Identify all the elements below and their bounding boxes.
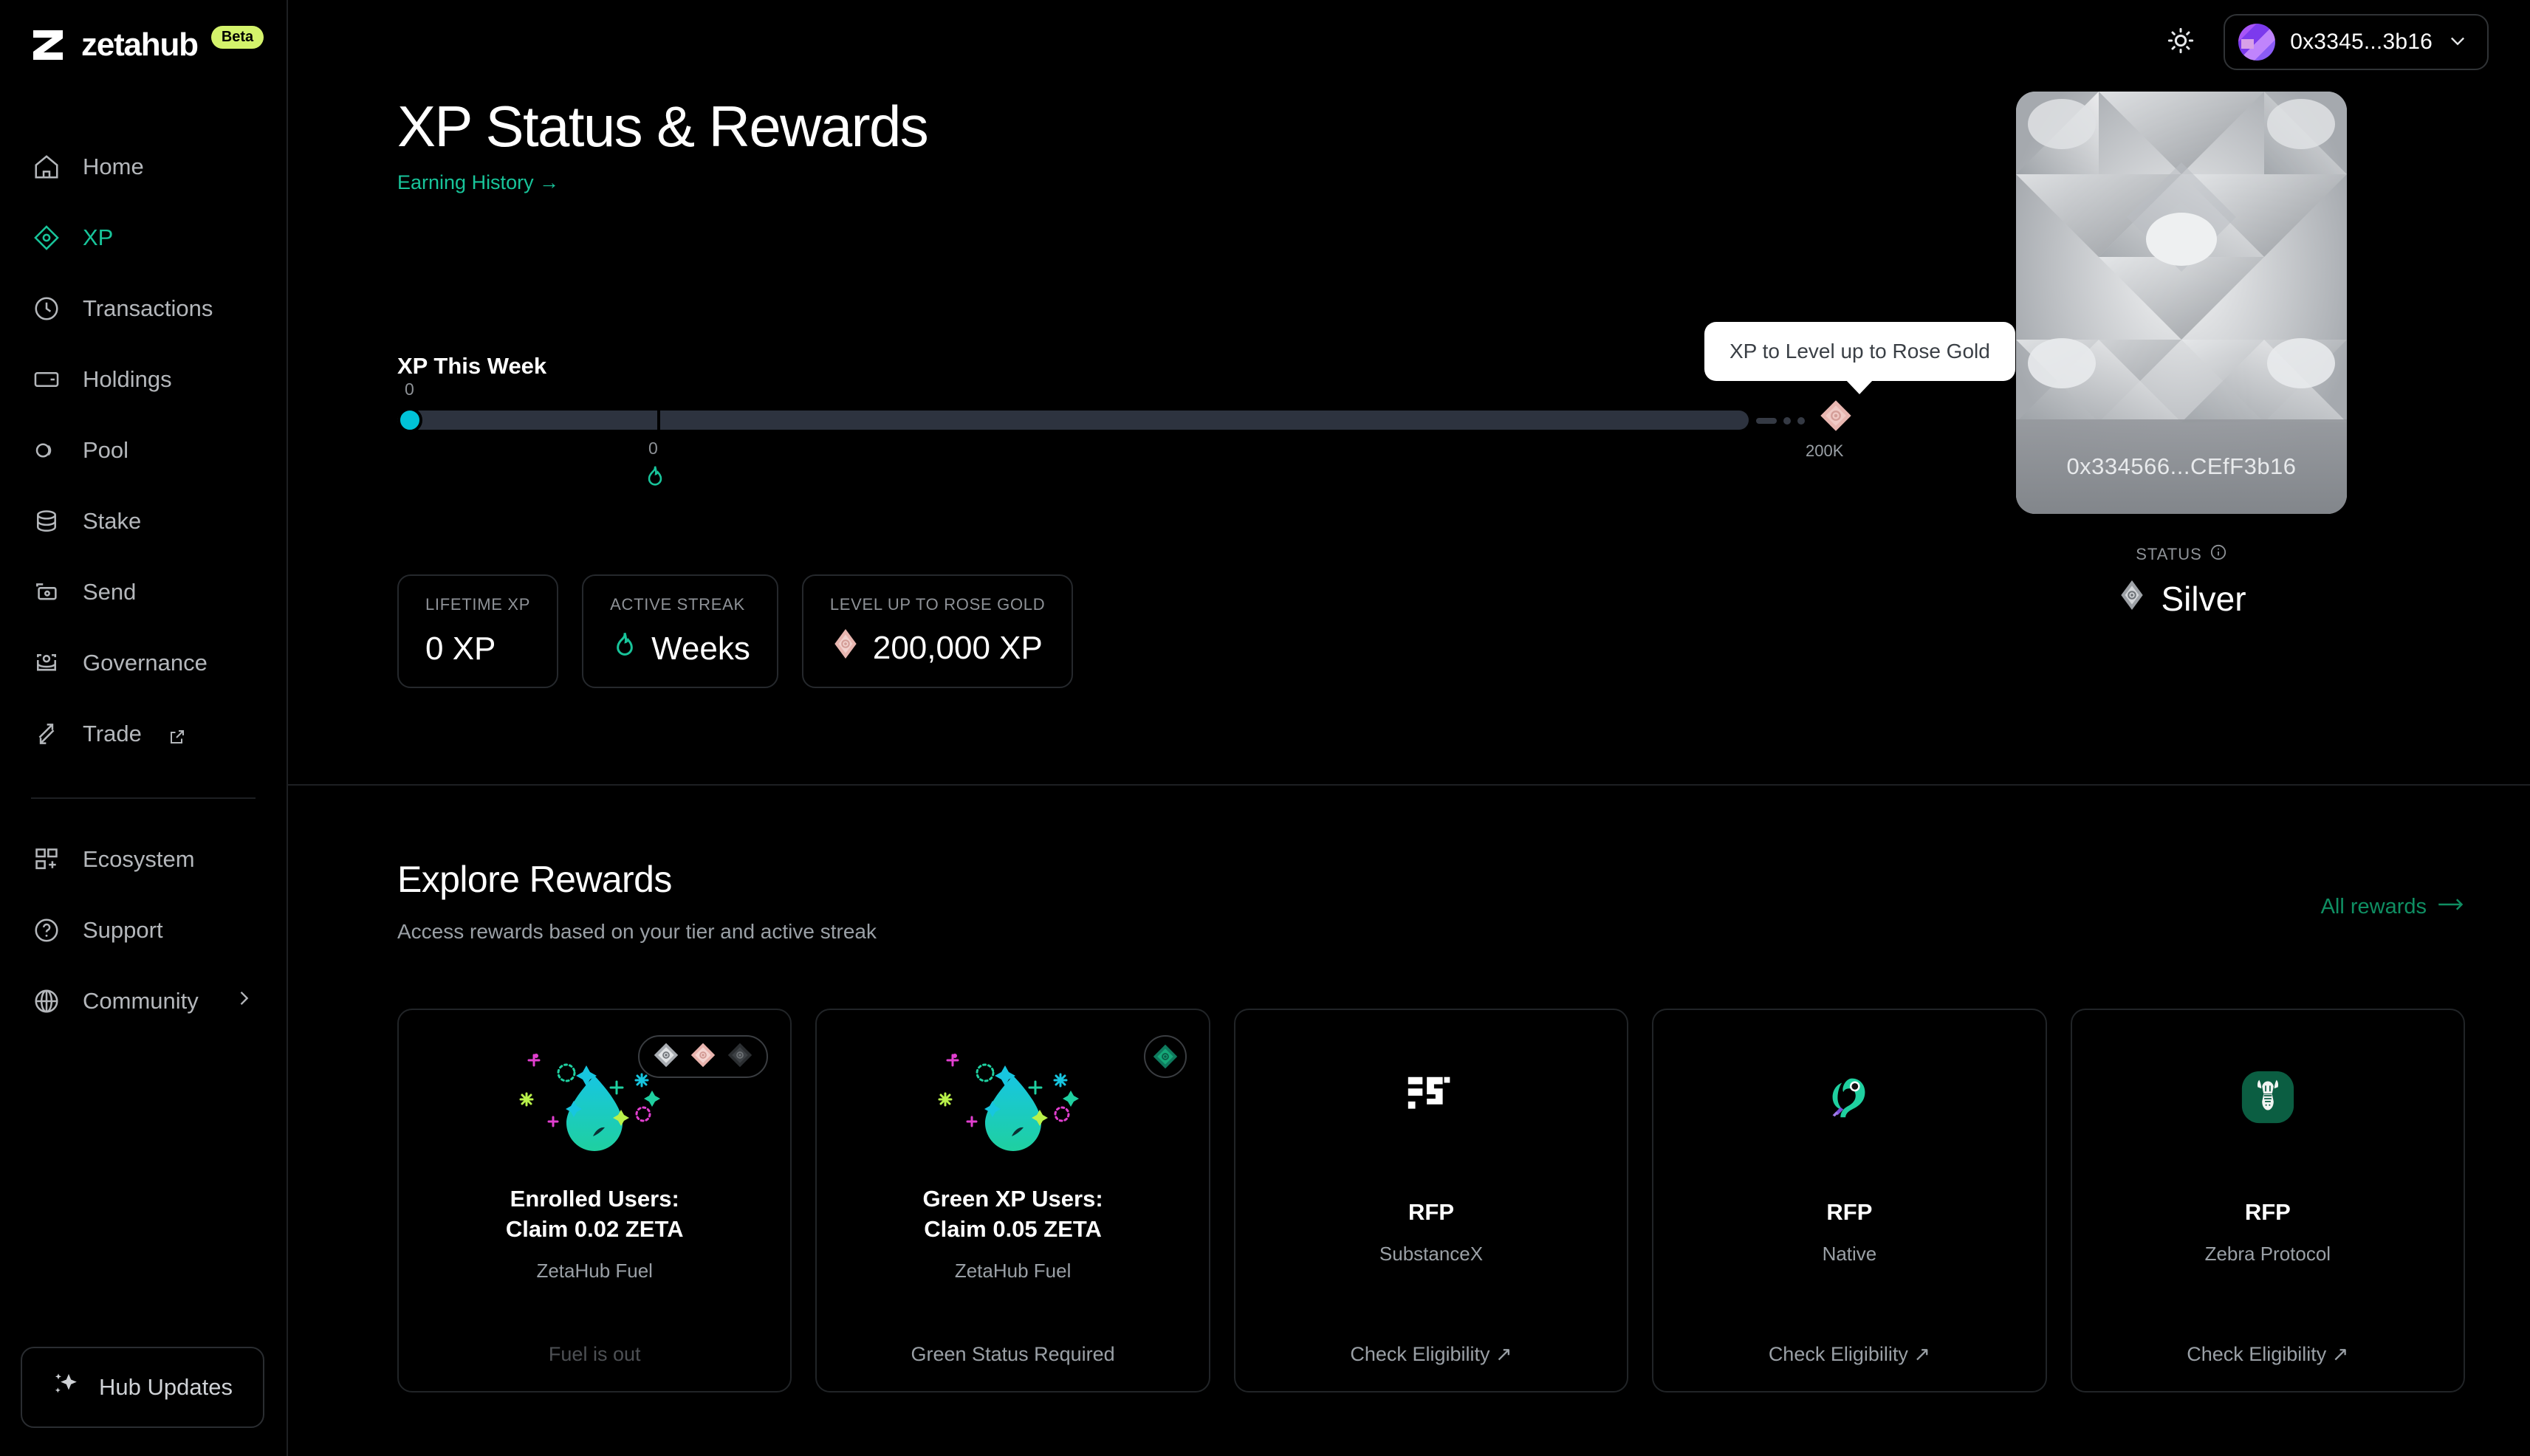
zebra-protocol-logo-icon bbox=[2072, 1010, 2464, 1184]
reward-card-cta[interactable]: Check Eligibility ↗ bbox=[1653, 1343, 2045, 1366]
all-rewards-link[interactable]: All rewards bbox=[2321, 895, 2465, 919]
app-root: zetahub Beta Home XP bbox=[0, 0, 2530, 1456]
reward-card-title: RFP bbox=[1811, 1198, 1887, 1228]
xp-stat-cards: LIFETIME XP 0 XP ACTIVE STREAK Weeks LEV… bbox=[397, 574, 1073, 688]
sidebar-item-transactions[interactable]: Transactions bbox=[0, 273, 287, 344]
grid-plus-icon bbox=[31, 844, 62, 875]
xp-progress-track bbox=[397, 411, 1749, 430]
wallet-button[interactable]: 0x3345...3b16 bbox=[2224, 14, 2489, 70]
sidebar-item-governance[interactable]: Governance bbox=[0, 628, 287, 698]
main-content: 0x3345...3b16 XP Status & Rewards Earnin… bbox=[288, 0, 2530, 1456]
stat-label: LEVEL UP TO ROSE GOLD bbox=[830, 595, 1045, 614]
tier-badge-group bbox=[638, 1035, 768, 1078]
reward-card-zebra-protocol[interactable]: RFP Zebra Protocol Check Eligibility ↗ bbox=[2071, 1009, 2465, 1393]
sidebar-item-label: Holdings bbox=[83, 366, 172, 393]
stat-card-lifetime-xp: LIFETIME XP 0 XP bbox=[397, 574, 558, 688]
reward-card-subtitle: SubstanceX bbox=[1379, 1243, 1483, 1266]
trade-arrows-icon bbox=[31, 718, 62, 749]
xp-tick-label: 0 bbox=[648, 439, 658, 459]
sidebar-item-support[interactable]: Support bbox=[0, 895, 287, 966]
xp-progress-tick bbox=[657, 409, 660, 431]
sidebar-nav: Home XP Transactions bbox=[0, 131, 287, 1037]
stat-value: 0 XP bbox=[425, 631, 530, 667]
chevron-down-icon bbox=[2447, 30, 2468, 55]
xp-progress-bar[interactable]: 0 0 bbox=[397, 405, 1845, 434]
zeta-fuel-droplet-icon bbox=[817, 1010, 1208, 1184]
stat-value: Weeks bbox=[651, 631, 750, 667]
status-row: STATUS bbox=[2016, 543, 2347, 566]
rewards-header: Explore Rewards Access rewards based on … bbox=[397, 858, 2465, 944]
reward-card-cta: Fuel is out bbox=[399, 1343, 790, 1366]
sidebar-item-home[interactable]: Home bbox=[0, 131, 287, 202]
rose-gold-diamond-icon bbox=[830, 628, 861, 667]
rewards-card-grid: Enrolled Users:Claim 0.02 ZETA ZetaHub F… bbox=[397, 1009, 2465, 1393]
hub-updates-label: Hub Updates bbox=[99, 1374, 233, 1401]
stat-card-active-streak: ACTIVE STREAK Weeks bbox=[582, 574, 778, 688]
sidebar-item-label: Support bbox=[83, 917, 163, 944]
sidebar-item-label: XP bbox=[83, 224, 113, 251]
reward-card-subtitle: ZetaHub Fuel bbox=[536, 1260, 653, 1282]
stat-label: LIFETIME XP bbox=[425, 595, 530, 614]
sidebar-item-ecosystem[interactable]: Ecosystem bbox=[0, 824, 287, 895]
sidebar-item-label: Governance bbox=[83, 650, 208, 676]
sidebar-item-trade[interactable]: Trade bbox=[0, 698, 287, 769]
xp-week-title: XP This Week bbox=[397, 353, 1845, 380]
reward-card-enrolled-users[interactable]: Enrolled Users:Claim 0.02 ZETA ZetaHub F… bbox=[397, 1009, 792, 1393]
sidebar-item-pool[interactable]: Pool bbox=[0, 415, 287, 486]
topbar: 0x3345...3b16 bbox=[288, 0, 2530, 71]
rose-gold-diamond-icon[interactable] bbox=[1819, 399, 1853, 436]
reward-card-native[interactable]: RFP Native Check Eligibility ↗ bbox=[1652, 1009, 2046, 1393]
reward-card-cta: Green Status Required bbox=[817, 1343, 1208, 1366]
native-chameleon-logo-icon bbox=[1653, 1010, 2045, 1184]
reward-card-green-xp-users[interactable]: Green XP Users:Claim 0.05 ZETA ZetaHub F… bbox=[815, 1009, 1210, 1393]
brand-logo[interactable]: zetahub Beta bbox=[0, 0, 287, 71]
globe-icon bbox=[31, 986, 62, 1017]
sidebar-item-holdings[interactable]: Holdings bbox=[0, 344, 287, 415]
sidebar-item-send[interactable]: Send bbox=[0, 557, 287, 628]
xp-goal-label: 200K bbox=[1806, 442, 1843, 461]
sidebar-divider bbox=[31, 797, 256, 799]
explore-rewards-section: Explore Rewards Access rewards based on … bbox=[397, 858, 2465, 1393]
brand-name: zetahub bbox=[81, 27, 198, 63]
zeta-z-logo-icon bbox=[31, 28, 65, 62]
wallet-address: 0x3345...3b16 bbox=[2290, 30, 2433, 55]
status-label: STATUS bbox=[2136, 545, 2202, 564]
status-tier-label: Silver bbox=[2161, 579, 2246, 619]
sun-icon bbox=[2166, 26, 2195, 59]
nft-card[interactable]: 0x334566...CEfF3b16 bbox=[2016, 92, 2347, 514]
reward-card-title: Enrolled Users:Claim 0.02 ZETA bbox=[491, 1184, 699, 1245]
send-money-icon bbox=[31, 577, 62, 608]
status-badge: Silver bbox=[2016, 579, 2347, 619]
flame-icon bbox=[610, 630, 640, 667]
reward-card-substancex[interactable]: RFP SubstanceX Check Eligibility ↗ bbox=[1234, 1009, 1628, 1393]
xp-progress-knob[interactable] bbox=[397, 408, 422, 433]
green-diamond-icon bbox=[1144, 1035, 1187, 1078]
arrow-right-icon bbox=[2437, 895, 2465, 919]
sidebar-item-label: Community bbox=[83, 988, 199, 1014]
substancex-logo-icon bbox=[1235, 1010, 1627, 1184]
chevron-right-icon bbox=[233, 988, 254, 1014]
rewards-title: Explore Rewards bbox=[397, 858, 877, 901]
nft-address: 0x334566...CEfF3b16 bbox=[2016, 419, 2347, 514]
sidebar-item-label: Send bbox=[83, 579, 136, 605]
clock-icon bbox=[31, 293, 62, 324]
sidebar-item-label: Transactions bbox=[83, 295, 213, 322]
wallet-icon bbox=[31, 364, 62, 395]
reward-card-title: RFP bbox=[2230, 1198, 2306, 1228]
reward-card-title: Green XP Users:Claim 0.05 ZETA bbox=[908, 1184, 1118, 1245]
reward-card-cta[interactable]: Check Eligibility ↗ bbox=[2072, 1343, 2464, 1366]
pool-circles-icon bbox=[31, 435, 62, 466]
stat-value-row: Weeks bbox=[610, 630, 750, 667]
section-divider bbox=[288, 784, 2530, 786]
silver-diamond-icon bbox=[2116, 579, 2147, 619]
dark-diamond-icon bbox=[727, 1042, 753, 1072]
rose-gold-diamond-icon bbox=[690, 1042, 716, 1072]
reward-card-subtitle: Native bbox=[1823, 1243, 1877, 1266]
sidebar: zetahub Beta Home XP bbox=[0, 0, 288, 1456]
sidebar-item-label: Stake bbox=[83, 508, 141, 535]
sidebar-item-xp[interactable]: XP bbox=[0, 202, 287, 273]
sidebar-item-stake[interactable]: Stake bbox=[0, 486, 287, 557]
nft-status-column: 0x334566...CEfF3b16 STATUS bbox=[2016, 92, 2347, 619]
xp-start-label: 0 bbox=[405, 380, 414, 399]
info-icon[interactable] bbox=[2210, 543, 2227, 566]
sidebar-item-community[interactable]: Community bbox=[0, 966, 287, 1037]
level-up-tooltip: XP to Level up to Rose Gold bbox=[1704, 322, 2015, 381]
database-stack-icon bbox=[31, 506, 62, 537]
reward-card-subtitle: Zebra Protocol bbox=[2205, 1243, 2331, 1266]
earning-history-link[interactable]: Earning History → bbox=[397, 171, 559, 194]
stat-card-level-up: LEVEL UP TO ROSE GOLD 200,000 XP bbox=[802, 574, 1073, 688]
xp-diamond-icon bbox=[31, 222, 62, 253]
rewards-subtitle: Access rewards based on your tier and ac… bbox=[397, 920, 877, 944]
all-rewards-label: All rewards bbox=[2321, 895, 2427, 919]
sidebar-item-label: Ecosystem bbox=[83, 846, 195, 873]
question-circle-icon bbox=[31, 915, 62, 946]
beta-badge: Beta bbox=[211, 26, 264, 49]
stat-label: ACTIVE STREAK bbox=[610, 595, 750, 614]
sparkle-icon bbox=[50, 1370, 80, 1405]
xp-progress-dashes bbox=[1756, 417, 1805, 425]
flame-icon bbox=[642, 464, 668, 492]
home-icon bbox=[31, 151, 62, 182]
stat-value-row: 200,000 XP bbox=[830, 628, 1045, 667]
avatar bbox=[2238, 24, 2275, 61]
sidebar-item-label: Home bbox=[83, 154, 144, 180]
reward-card-subtitle: ZetaHub Fuel bbox=[955, 1260, 1072, 1282]
silver-diamond-icon bbox=[653, 1042, 679, 1072]
theme-toggle-button[interactable] bbox=[2162, 23, 2200, 61]
reward-card-title: RFP bbox=[1393, 1198, 1469, 1228]
sidebar-item-label: Pool bbox=[83, 437, 128, 464]
stat-value: 200,000 XP bbox=[873, 630, 1043, 667]
reward-card-cta[interactable]: Check Eligibility ↗ bbox=[1235, 1343, 1627, 1366]
governance-icon bbox=[31, 648, 62, 679]
hub-updates-button[interactable]: Hub Updates bbox=[21, 1347, 264, 1428]
external-link-icon bbox=[168, 725, 186, 743]
sidebar-item-label: Trade bbox=[83, 721, 142, 747]
xp-this-week-section: XP This Week 0 0 bbox=[397, 353, 1845, 434]
